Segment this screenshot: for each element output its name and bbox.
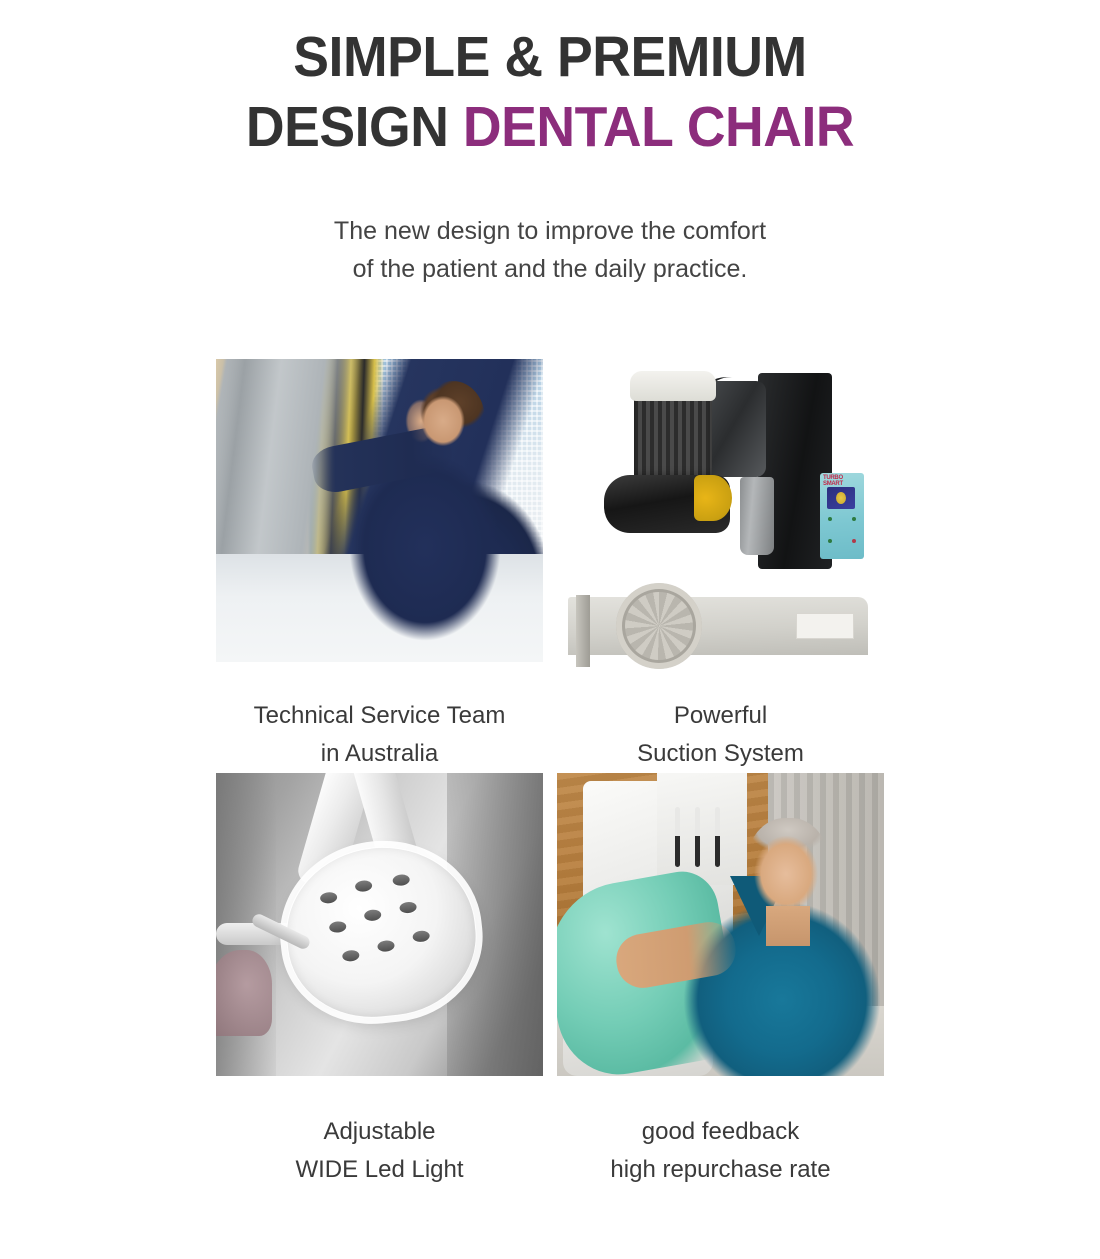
caption-line-1: Adjustable bbox=[209, 1113, 550, 1151]
headline-line-2: DESIGN DENTAL CHAIR bbox=[33, 92, 1067, 162]
status-led-2 bbox=[852, 517, 856, 521]
feature-image-wrap bbox=[209, 359, 550, 669]
feature-grid: Technical Service Team in Australia bbox=[209, 359, 891, 1189]
electric-motor bbox=[634, 377, 712, 481]
headline-line-2-accent: DENTAL CHAIR bbox=[463, 95, 854, 159]
dentist-figure bbox=[674, 814, 884, 1076]
feature-caption: Adjustable WIDE Led Light bbox=[209, 1083, 550, 1189]
feature-image-wrap: TURBO SMART bbox=[550, 359, 891, 669]
feature-caption: Technical Service Team in Australia bbox=[209, 669, 550, 773]
feature-card-suction-system[interactable]: TURBO SMART bbox=[550, 359, 891, 773]
status-led-1 bbox=[828, 517, 832, 521]
frame-leg bbox=[576, 595, 590, 667]
panel-display bbox=[827, 487, 855, 509]
feature-image-wrap bbox=[209, 773, 550, 1083]
flywheel bbox=[616, 583, 702, 669]
grey-cylinder bbox=[740, 477, 774, 555]
feature-image-wrap bbox=[550, 773, 891, 1083]
subtitle-line-2: of the patient and the daily practice. bbox=[0, 250, 1100, 288]
caption-line-2: high repurchase rate bbox=[550, 1151, 891, 1189]
suction-system-photo: TURBO SMART bbox=[550, 359, 891, 669]
page-subtitle: The new design to improve the comfort of… bbox=[0, 212, 1100, 288]
caption-line-2: in Australia bbox=[209, 735, 550, 773]
feature-card-led-light[interactable]: Adjustable WIDE Led Light bbox=[209, 773, 550, 1189]
status-led-3 bbox=[828, 539, 832, 543]
feature-card-customer-feedback[interactable]: good feedback high repurchase rate bbox=[550, 773, 891, 1189]
feature-row-2: Adjustable WIDE Led Light bbox=[209, 773, 891, 1189]
spec-label bbox=[796, 613, 854, 639]
headline-line-2-plain: DESIGN bbox=[246, 95, 463, 159]
caption-line-1: Technical Service Team bbox=[209, 697, 550, 735]
caption-line-2: WIDE Led Light bbox=[209, 1151, 550, 1189]
led-light-photo bbox=[216, 773, 543, 1076]
caption-line-2: Suction System bbox=[550, 735, 891, 773]
feature-card-technical-service[interactable]: Technical Service Team in Australia bbox=[209, 359, 550, 773]
marketing-page: SIMPLE & PREMIUM DESIGN DENTAL CHAIR The… bbox=[0, 0, 1100, 1259]
dentist-photo bbox=[557, 773, 884, 1076]
panel-brand-label: TURBO SMART bbox=[823, 475, 843, 487]
intake-port-yellow bbox=[694, 475, 732, 521]
dentist-head bbox=[746, 818, 830, 922]
feature-caption: good feedback high repurchase rate bbox=[550, 1083, 891, 1189]
technician-photo bbox=[216, 359, 543, 662]
headline-line-1: SIMPLE & PREMIUM bbox=[33, 22, 1067, 92]
suction-assembly: TURBO SMART bbox=[568, 369, 860, 599]
worker-head bbox=[421, 381, 485, 457]
caption-line-1: Powerful bbox=[550, 697, 891, 735]
caption-line-1: good feedback bbox=[550, 1113, 891, 1151]
feature-caption: Powerful Suction System bbox=[550, 669, 891, 773]
feature-row-1: Technical Service Team in Australia bbox=[209, 359, 891, 773]
control-panel[interactable]: TURBO SMART bbox=[820, 473, 864, 559]
subtitle-line-1: The new design to improve the comfort bbox=[0, 212, 1100, 250]
page-title: SIMPLE & PREMIUM DESIGN DENTAL CHAIR bbox=[33, 22, 1067, 162]
status-led-4 bbox=[852, 539, 856, 543]
background-chair bbox=[216, 950, 272, 1036]
